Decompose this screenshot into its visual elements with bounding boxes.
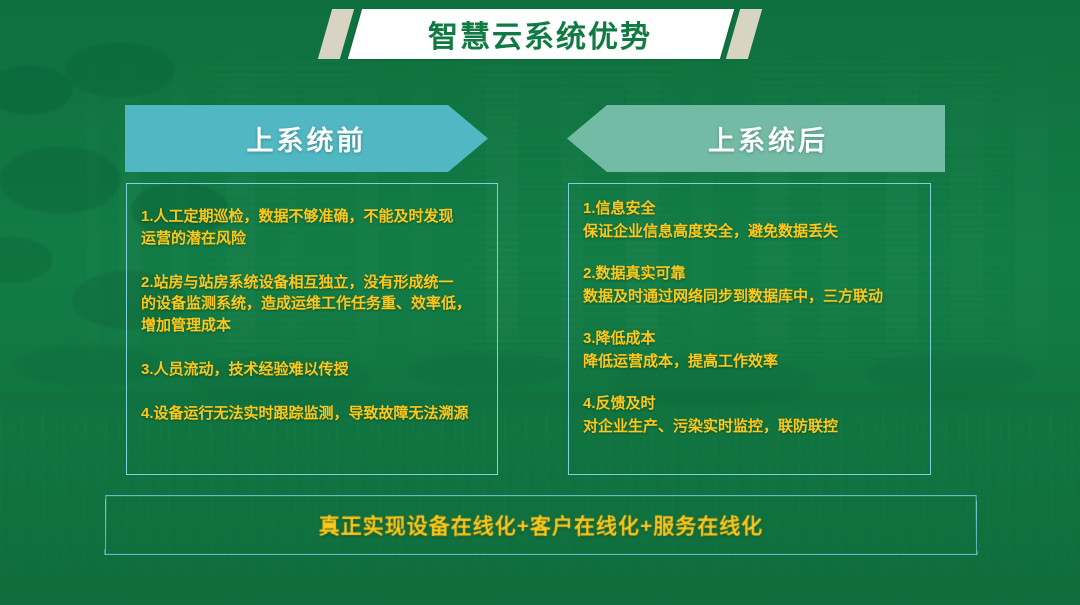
header-label-before: 上系统前 [247, 119, 367, 158]
after-item-line: 对企业生产、污染实时监控，联防联控 [583, 416, 916, 439]
footer-text: 真正实现设备在线化+客户在线化+服务在线化 [319, 510, 764, 540]
after-item: 2.数据真实可靠数据及时通过网络同步到数据库中，三方联动 [583, 263, 916, 308]
after-item-line: 4.反馈及时 [583, 393, 916, 416]
after-item-line: 3.降低成本 [583, 328, 916, 351]
after-item-line: 2.数据真实可靠 [583, 263, 916, 286]
page-title: 智慧云系统优势 [325, 9, 755, 59]
after-item-line: 降低运营成本，提高工作效率 [583, 351, 916, 374]
after-item-list: 1.信息安全保证企业信息高度安全，避免数据丢失2.数据真实可靠数据及时通过网络同… [569, 184, 930, 438]
before-item-line: 的设备监测系统，造成运维工作任务重、效率低， [141, 293, 483, 315]
after-item: 3.降低成本降低运营成本，提高工作效率 [583, 328, 916, 373]
header-chevron-before: 上系统前 [125, 105, 488, 172]
before-item-line: 4.设备运行无法实时跟踪监测，导致故障无法溯源 [141, 403, 483, 425]
before-item-line: 1.人工定期巡检，数据不够准确，不能及时发现 [141, 206, 483, 228]
after-item: 4.反馈及时对企业生产、污染实时监控，联防联控 [583, 393, 916, 438]
after-item-line: 保证企业信息高度安全，避免数据丢失 [583, 221, 916, 244]
panel-after-system: 1.信息安全保证企业信息高度安全，避免数据丢失2.数据真实可靠数据及时通过网络同… [568, 183, 931, 475]
before-item: 1.人工定期巡检，数据不够准确，不能及时发现运营的潜在风险 [141, 206, 483, 250]
title-banner: 智慧云系统优势 [325, 9, 755, 59]
before-item-line: 2.站房与站房系统设备相互独立，没有形成统一 [141, 272, 483, 294]
panel-before-system: 1.人工定期巡检，数据不够准确，不能及时发现运营的潜在风险2.站房与站房系统设备… [126, 183, 498, 475]
before-item: 2.站房与站房系统设备相互独立，没有形成统一的设备监测系统，造成运维工作任务重、… [141, 272, 483, 337]
header-label-after: 上系统后 [684, 119, 828, 158]
header-chevron-after: 上系统后 [567, 105, 945, 172]
before-item: 3.人员流动，技术经验难以传授 [141, 359, 483, 381]
before-item-list: 1.人工定期巡检，数据不够准确，不能及时发现运营的潜在风险2.站房与站房系统设备… [127, 184, 497, 424]
before-item-line: 增加管理成本 [141, 315, 483, 337]
before-item-line: 运营的潜在风险 [141, 228, 483, 250]
before-item-line: 3.人员流动，技术经验难以传授 [141, 359, 483, 381]
footer-banner: 真正实现设备在线化+客户在线化+服务在线化 [105, 495, 978, 555]
after-item: 1.信息安全保证企业信息高度安全，避免数据丢失 [583, 198, 916, 243]
before-item: 4.设备运行无法实时跟踪监测，导致故障无法溯源 [141, 403, 483, 425]
after-item-line: 数据及时通过网络同步到数据库中，三方联动 [583, 286, 916, 309]
after-item-line: 1.信息安全 [583, 198, 916, 221]
slide-root: 智慧云系统优势 上系统前 上系统后 1.人工定期巡检，数据不够准确，不能及时发现… [0, 0, 1080, 605]
